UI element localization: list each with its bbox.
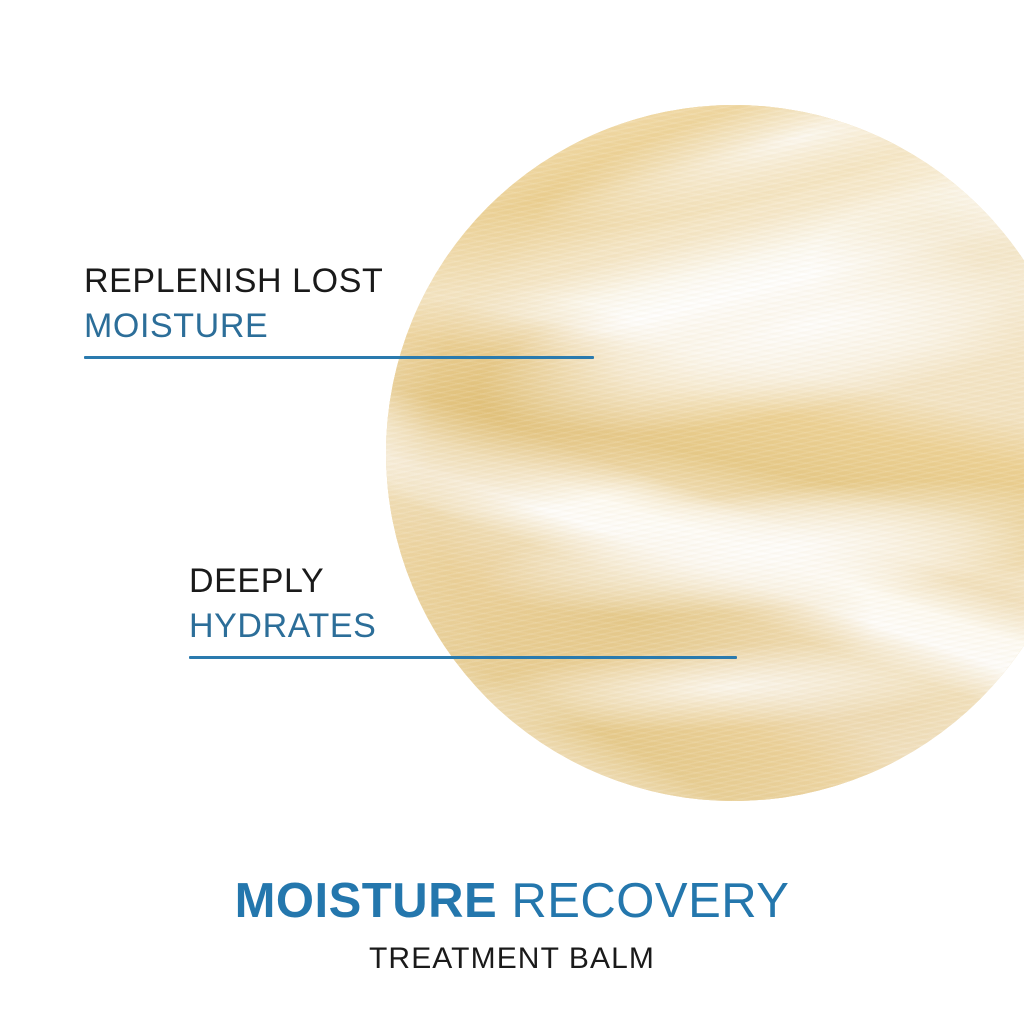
product-texture-circle xyxy=(386,105,1024,801)
product-subtitle: TREATMENT BALM xyxy=(0,944,1024,974)
balm-edge-vignette xyxy=(386,105,1024,801)
callout-deeply-hydrates: DEEPLY HYDRATES xyxy=(189,564,737,659)
product-title-primary: MOISTURE xyxy=(235,874,498,928)
product-marketing-image: REPLENISH LOST MOISTURE DEEPLY HYDRATES … xyxy=(0,0,1024,1024)
callout-replenish-lost-moisture: REPLENISH LOST MOISTURE xyxy=(84,264,594,359)
callout-replenish-rule xyxy=(84,356,594,359)
callout-deeply-rule xyxy=(189,656,737,659)
product-name-lockup: MOISTURE RECOVERY TREATMENT BALM xyxy=(0,876,1024,974)
callout-deeply-line1: DEEPLY xyxy=(189,564,737,598)
callout-replenish-line2: MOISTURE xyxy=(84,309,594,343)
callout-deeply-line2: HYDRATES xyxy=(189,609,737,643)
product-title-secondary: RECOVERY xyxy=(511,874,789,928)
callout-replenish-line1: REPLENISH LOST xyxy=(84,264,594,298)
product-title: MOISTURE RECOVERY xyxy=(0,876,1024,927)
